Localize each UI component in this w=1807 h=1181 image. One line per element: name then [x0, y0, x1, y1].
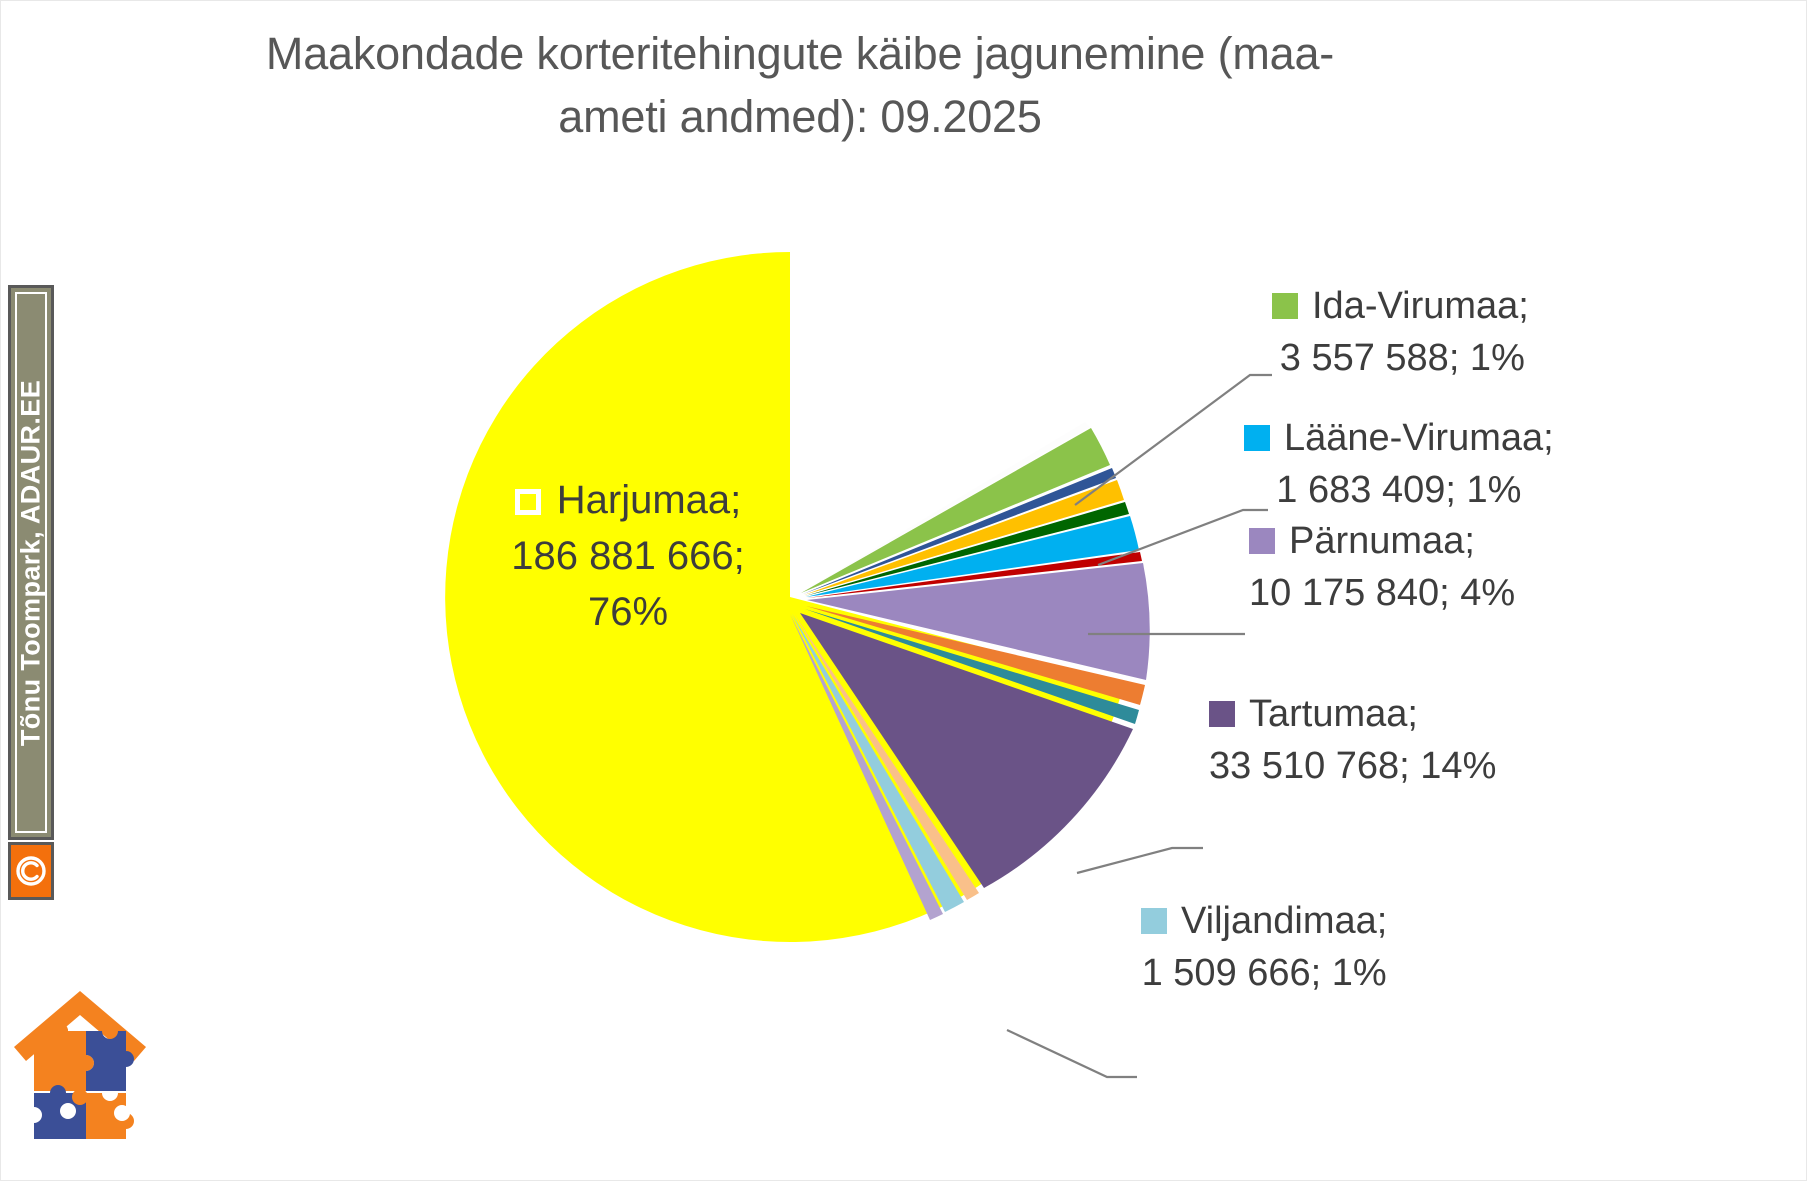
leader-line-viljandimaa	[1007, 1030, 1137, 1077]
watermark-bar: Tõnu Toompark, ADAUR.EE	[8, 285, 54, 840]
copyright-badge	[8, 842, 54, 900]
pie-label-tartumaa: Tartumaa; 33 510 768; 14%	[1209, 688, 1496, 792]
adaur-logo	[10, 985, 150, 1145]
legend-swatch-parnumaa	[1249, 528, 1275, 554]
pie-label-harjumaa-value: 186 881 666;	[458, 528, 798, 584]
pie-label-laane-virumaa-name: Lääne-Virumaa;	[1284, 417, 1554, 459]
legend-swatch-harjumaa	[515, 489, 541, 515]
pie-label-laane-virumaa: Lääne-Virumaa; 1 683 409; 1%	[1244, 412, 1554, 516]
pie-label-tartumaa-value: 33 510 768; 14%	[1209, 740, 1496, 792]
pie-label-ida-virumaa-value: 3 557 588; 1%	[1272, 332, 1529, 384]
pie-label-laane-virumaa-value: 1 683 409; 1%	[1244, 464, 1554, 516]
pie-label-harjumaa-name: Harjumaa;	[557, 478, 742, 522]
pie-label-harjumaa: Harjumaa; 186 881 666; 76%	[458, 472, 798, 640]
pie-label-parnumaa-value: 10 175 840; 4%	[1249, 567, 1515, 619]
pie-label-tartumaa-name: Tartumaa;	[1249, 693, 1418, 735]
legend-swatch-tartumaa	[1209, 701, 1235, 727]
pie-label-parnumaa-name: Pärnumaa;	[1289, 520, 1475, 562]
legend-swatch-laane-virumaa	[1244, 425, 1270, 451]
legend-swatch-viljandimaa	[1141, 908, 1167, 934]
pie-label-parnumaa-row1: Pärnumaa;	[1249, 515, 1515, 567]
pie-label-viljandimaa-row1: Viljandimaa;	[1141, 895, 1387, 947]
pie-chart-graphic	[0, 0, 1807, 1181]
pie-label-parnumaa: Pärnumaa; 10 175 840; 4%	[1249, 515, 1515, 619]
pie-label-tartumaa-row1: Tartumaa;	[1209, 688, 1496, 740]
pie-label-ida-virumaa-row1: Ida-Virumaa;	[1272, 280, 1529, 332]
pie-label-harjumaa-row1: Harjumaa;	[458, 472, 798, 528]
watermark-text: Tõnu Toompark, ADAUR.EE	[16, 379, 47, 745]
pie-label-viljandimaa: Viljandimaa; 1 509 666; 1%	[1141, 895, 1387, 999]
logo-puzzle-icon	[34, 1023, 134, 1139]
pie-label-viljandimaa-name: Viljandimaa;	[1181, 900, 1387, 942]
pie-label-viljandimaa-value: 1 509 666; 1%	[1141, 947, 1387, 999]
leader-line-tartumaa	[1077, 848, 1203, 873]
copyright-icon	[14, 854, 48, 888]
legend-swatch-ida-virumaa	[1272, 293, 1298, 319]
pie-label-ida-virumaa-name: Ida-Virumaa;	[1312, 285, 1529, 327]
chart-canvas: Maakondade korteritehingute käibe jagune…	[0, 0, 1807, 1181]
pie-label-ida-virumaa: Ida-Virumaa; 3 557 588; 1%	[1272, 280, 1529, 384]
pie-label-harjumaa-percent: 76%	[458, 584, 798, 640]
pie-label-laane-virumaa-row1: Lääne-Virumaa;	[1244, 412, 1554, 464]
